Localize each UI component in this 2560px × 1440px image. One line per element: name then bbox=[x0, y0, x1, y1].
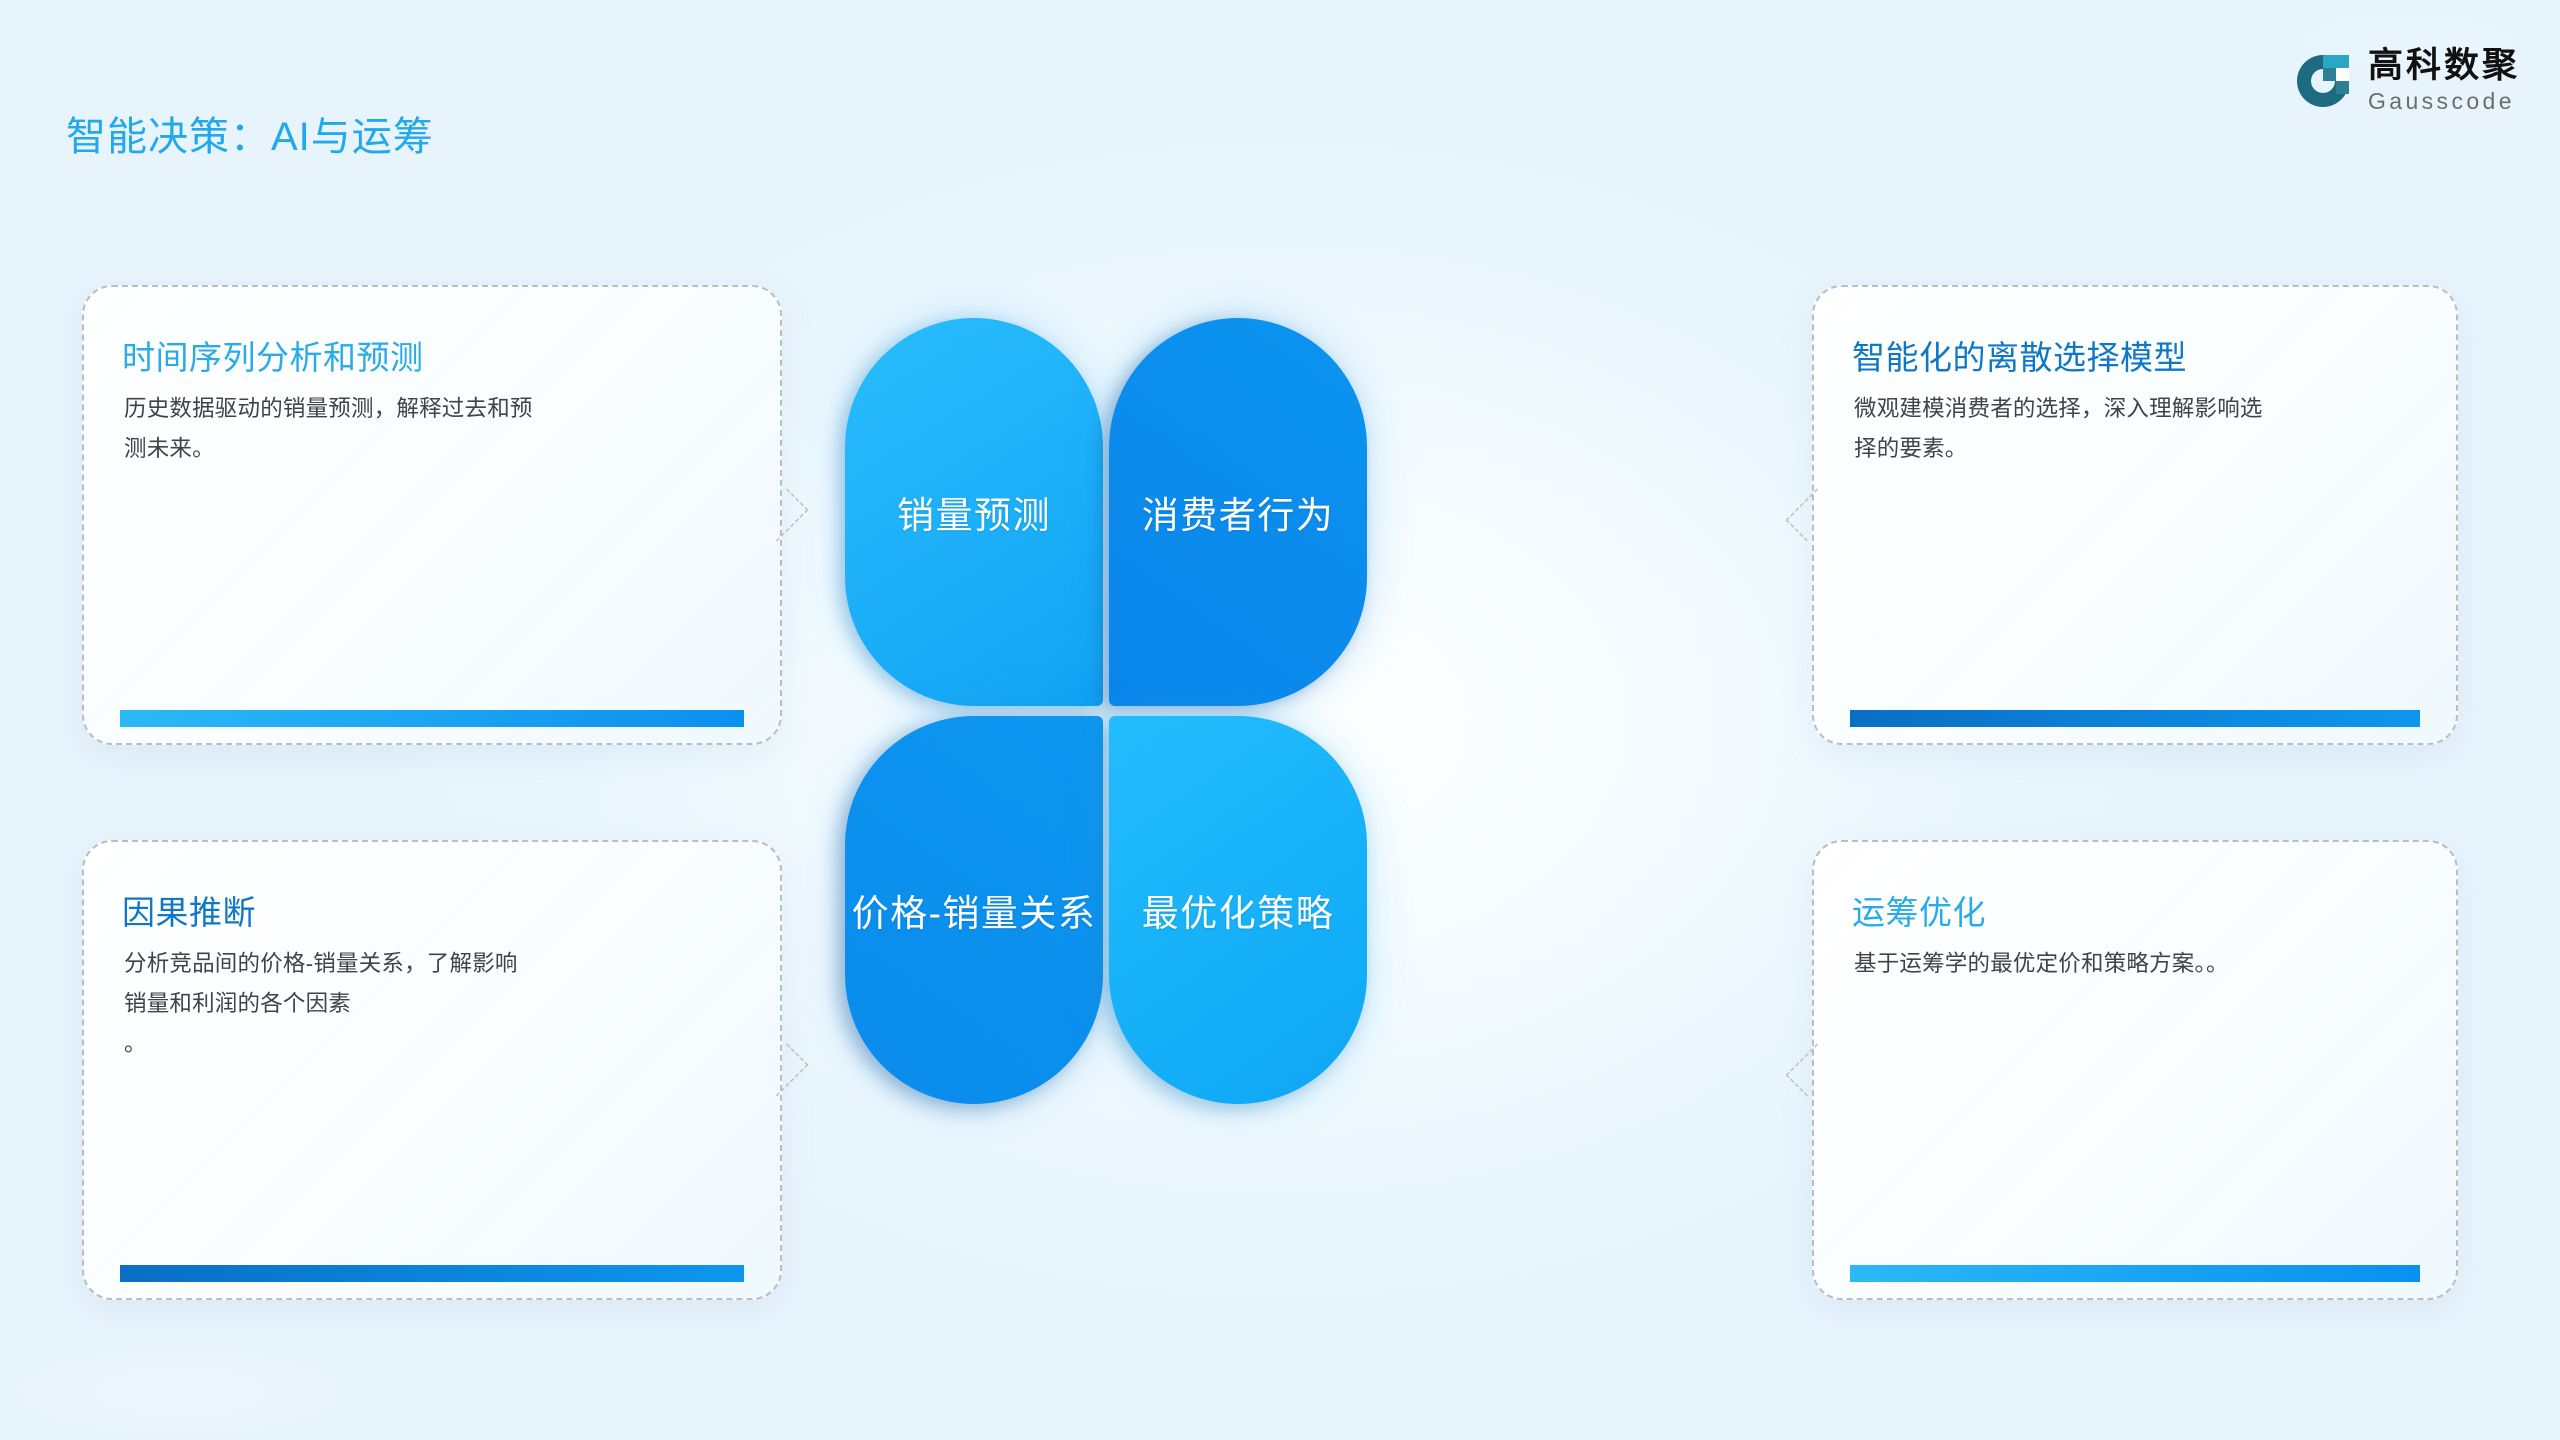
card-accent-bar bbox=[1850, 1265, 2420, 1282]
card-title: 运筹优化 bbox=[1852, 886, 1986, 934]
card-pointer-icon bbox=[761, 484, 803, 546]
petal-label: 消费者行为 bbox=[1142, 485, 1335, 539]
petal-sales-forecast[interactable]: 销量预测 bbox=[845, 318, 1103, 706]
card-accent-bar bbox=[120, 710, 744, 727]
card-discrete-choice[interactable]: 智能化的离散选择模型 微观建模消费者的选择，深入理解影响选 择的要素。 bbox=[1812, 285, 2458, 745]
petal-consumer-behavior[interactable]: 消费者行为 bbox=[1109, 318, 1367, 706]
four-petal-diagram: 销量预测 消费者行为 价格-销量关系 最优化策略 bbox=[845, 318, 1375, 1108]
brand-name-cn: 高科数聚 bbox=[2368, 48, 2520, 83]
petal-optimization-strategy[interactable]: 最优化策略 bbox=[1109, 716, 1367, 1104]
brand-name-en: Gausscode bbox=[2368, 90, 2520, 113]
petal-label: 销量预测 bbox=[897, 485, 1051, 539]
card-body: 基于运筹学的最优定价和策略方案。。 bbox=[1854, 944, 2420, 984]
brand-text: 高科数聚 Gausscode bbox=[2368, 48, 2520, 113]
card-causal-inference[interactable]: 因果推断 分析竞品间的价格-销量关系，了解影响 销量和利润的各个因素 。 bbox=[82, 840, 782, 1300]
page-title: 智能决策：AI与运筹 bbox=[66, 104, 434, 162]
petal-label: 最优化策略 bbox=[1142, 883, 1335, 937]
card-operations-optimization[interactable]: 运筹优化 基于运筹学的最优定价和策略方案。。 bbox=[1812, 840, 2458, 1300]
card-pointer-icon bbox=[761, 1039, 803, 1101]
card-title: 时间序列分析和预测 bbox=[122, 331, 424, 379]
petal-price-sales-relation[interactable]: 价格-销量关系 bbox=[845, 716, 1103, 1104]
petal-label: 价格-销量关系 bbox=[852, 883, 1097, 937]
card-title: 因果推断 bbox=[122, 886, 256, 934]
card-accent-bar bbox=[1850, 710, 2420, 727]
card-body: 微观建模消费者的选择，深入理解影响选 择的要素。 bbox=[1854, 389, 2420, 469]
card-body: 历史数据驱动的销量预测，解释过去和预 测未来。 bbox=[124, 389, 744, 469]
card-accent-bar bbox=[120, 1265, 744, 1282]
brand-logo: 高科数聚 Gausscode bbox=[2294, 48, 2520, 113]
card-time-series[interactable]: 时间序列分析和预测 历史数据驱动的销量预测，解释过去和预 测未来。 bbox=[82, 285, 782, 745]
card-pointer-icon bbox=[1791, 1039, 1833, 1101]
gausscode-logo-icon bbox=[2294, 52, 2352, 110]
card-body: 分析竞品间的价格-销量关系，了解影响 销量和利润的各个因素 。 bbox=[124, 944, 744, 1064]
card-pointer-icon bbox=[1791, 484, 1833, 546]
card-title: 智能化的离散选择模型 bbox=[1852, 331, 2187, 379]
